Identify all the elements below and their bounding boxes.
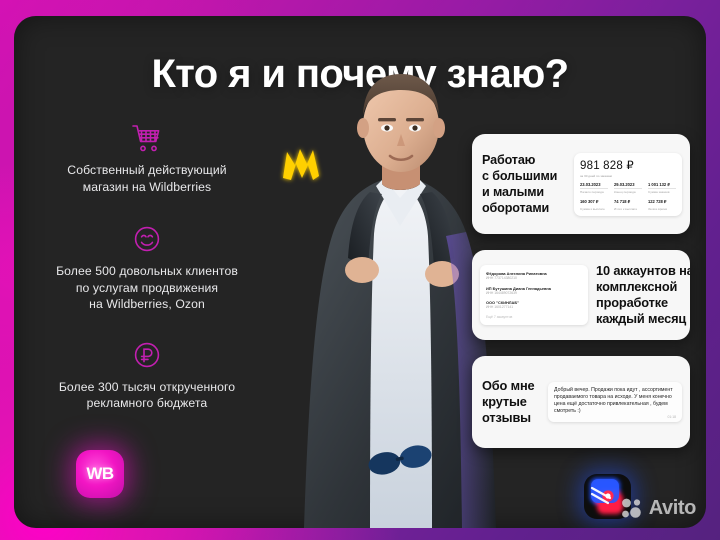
wildberries-badge-label: WB	[86, 464, 113, 484]
finance-amount: 981 828 ₽	[580, 158, 676, 172]
feature-item: Более 500 довольных клиентов по услугам …	[20, 223, 274, 313]
finance-cell: 74 718 ₽ Итого к выплате	[614, 199, 642, 211]
feature-text: Собственный действующий магазин на Wildb…	[20, 162, 274, 195]
card-reviews: Обо мне крутые отзывы Добрый вечер. Прод…	[472, 356, 690, 448]
avito-watermark: Avito	[620, 496, 696, 520]
finance-caption: за 30 дней по заказам	[580, 174, 676, 178]
promo-canvas: Кто я и почему знаю?	[0, 0, 720, 540]
finance-screenshot: 981 828 ₽ за 30 дней по заказам 23.03.20…	[574, 153, 682, 216]
feature-text: Более 300 тысяч откручен­ного рекламного…	[20, 379, 274, 412]
smiley-face-icon	[130, 223, 164, 255]
chat-message-text: Добрый вечер. Продажи пока идут , ассорт…	[554, 387, 676, 416]
card-heading: Обо мне крутые отзывы	[482, 378, 544, 426]
wildberries-badge: WB	[76, 450, 124, 498]
avito-dots-icon	[620, 496, 644, 520]
card-heading: 10 аккаунтов на комплексной проработке к…	[596, 263, 690, 327]
shopping-cart-icon	[130, 122, 164, 154]
card-heading: Работаю с большими и малыми оборотами	[482, 152, 574, 216]
finance-cell: 29.03.2023 Конец периода	[614, 182, 642, 195]
page-title: Кто я и почему знаю?	[14, 52, 706, 97]
ruble-circle-icon	[130, 339, 164, 371]
feature-list: Собственный действующий магазин на Wildb…	[20, 122, 274, 438]
chat-message-screenshot: Добрый вечер. Продажи пока идут , ассорт…	[548, 382, 682, 423]
avito-wordmark: Avito	[649, 497, 696, 520]
feature-item: Более 300 тысяч откручен­ного рекламного…	[20, 339, 274, 412]
chat-timestamp: 01:18	[668, 415, 677, 419]
finance-cell: 122 728 ₽ За все время	[648, 199, 676, 211]
card-accounts: Фёдорова Ангелина Ринатовна ИНН 77371438…	[472, 250, 690, 340]
proof-cards: Работаю с большими и малыми оборотами 98…	[472, 134, 690, 448]
finance-cell: 160 307 ₽ Сумма к выплате	[580, 199, 608, 211]
feature-text: Более 500 довольных клиентов по услугам …	[20, 263, 274, 313]
dark-panel: Кто я и почему знаю?	[14, 16, 706, 528]
finance-cell: 1 001 132 ₽ Сумма заказов	[648, 182, 676, 195]
feature-item: Собственный действующий магазин на Wildb…	[20, 122, 274, 195]
card-turnover: Работаю с большими и малыми оборотами 98…	[472, 134, 690, 234]
account-list-screenshot: Фёдорова Ангелина Ринатовна ИНН 77371438…	[480, 265, 588, 325]
finance-cell: 23.03.2023 Начало периода	[580, 182, 608, 195]
yellow-zigzag-icon	[273, 138, 333, 190]
